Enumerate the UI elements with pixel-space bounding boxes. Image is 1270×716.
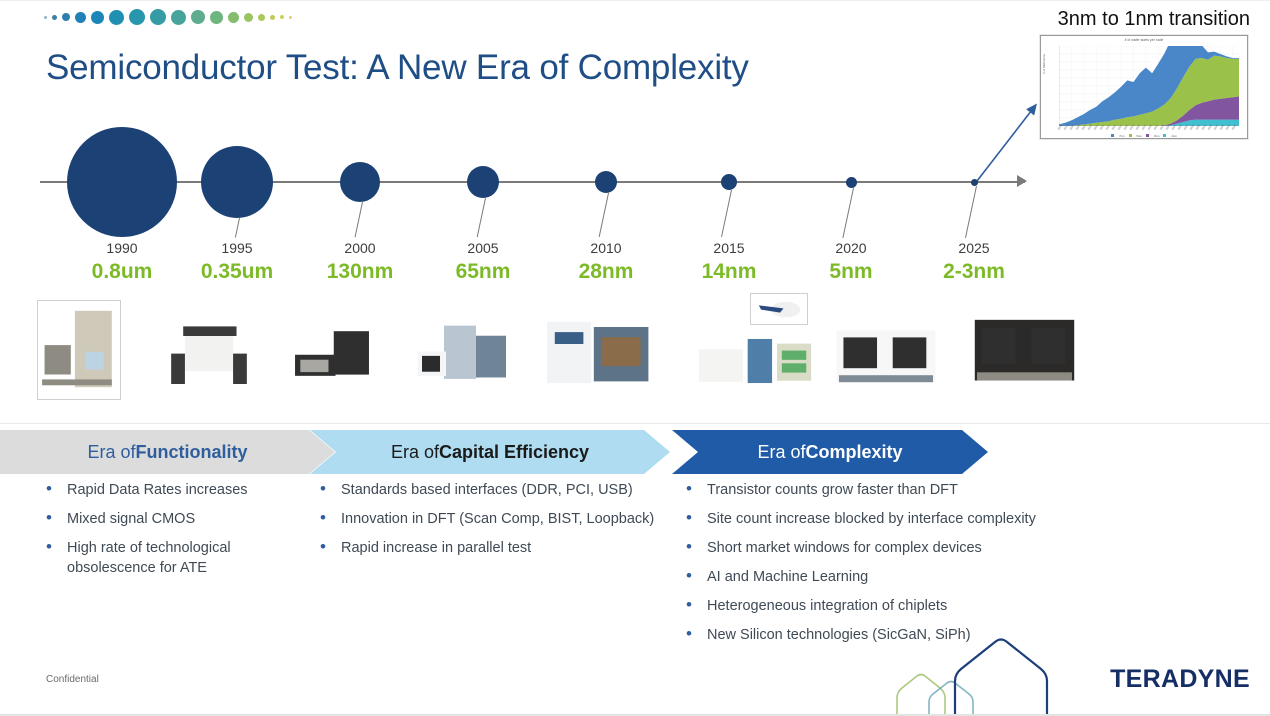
legend-swatch <box>1163 134 1166 137</box>
decor-dot <box>270 15 275 20</box>
photo-2015-tester <box>694 332 816 390</box>
top-divider <box>0 0 1270 1</box>
timeline-node-size-label: 28nm <box>536 260 676 284</box>
legend-swatch <box>1146 134 1149 137</box>
list-item: Heterogeneous integration of chiplets <box>676 596 1096 616</box>
timeline-node-2000[interactable] <box>340 162 380 202</box>
photo-2005-tester <box>414 317 514 389</box>
photo-2025-tester <box>968 310 1081 392</box>
inset-chart-title: # of wafer starts per node <box>1041 38 1247 42</box>
decor-dot <box>150 9 166 25</box>
list-item: AI and Machine Learning <box>676 567 1096 587</box>
era-label-emphasis: Complexity <box>806 442 903 463</box>
equipment-illustration <box>968 310 1081 392</box>
decor-dot <box>129 9 145 25</box>
equipment-illustration <box>751 294 807 324</box>
equipment-illustration <box>694 332 816 390</box>
timeline-node-size-label: 14nm <box>659 260 799 284</box>
timeline-leader-line <box>599 193 609 237</box>
timeline-year-label: 2025 <box>914 240 1034 256</box>
era-label-prefix: Era of <box>391 442 439 463</box>
equipment-illustration <box>414 317 514 389</box>
decor-dot <box>244 13 253 22</box>
equipment-illustration <box>830 322 942 392</box>
decor-dot <box>258 14 265 21</box>
confidential-label: Confidential <box>46 674 99 685</box>
decor-dot <box>228 12 239 23</box>
list-item: Transistor counts grow faster than DFT <box>676 480 1096 500</box>
list-item: Standards based interfaces (DDR, PCI, US… <box>310 480 675 500</box>
timeline-leader-line <box>477 198 486 237</box>
timeline-node-1990[interactable] <box>67 127 177 237</box>
timeline-year-label: 1990 <box>62 240 182 256</box>
slide-canvas: Semiconductor Test: A New Era of Complex… <box>0 0 1270 716</box>
list-item: Rapid Data Rates increases <box>36 480 321 500</box>
list-item: Innovation in DFT (Scan Comp, BIST, Loop… <box>310 509 675 529</box>
timeline-year-label: 2000 <box>300 240 420 256</box>
decor-dot <box>75 12 86 23</box>
timeline-year-label: 2005 <box>423 240 543 256</box>
decor-dot <box>289 16 292 19</box>
page-title: Semiconductor Test: A New Era of Complex… <box>46 48 749 88</box>
equipment-illustration <box>38 301 120 399</box>
timeline-axis <box>40 181 1025 183</box>
decor-dot <box>210 11 223 24</box>
list-item: Rapid increase in parallel test <box>310 538 675 558</box>
timeline-leader-line <box>355 202 363 237</box>
timeline-node-2015[interactable] <box>721 174 737 190</box>
bullet-column-capital-efficiency: Standards based interfaces (DDR, PCI, US… <box>310 480 675 567</box>
decor-dot <box>280 15 284 19</box>
timeline-node-1995[interactable] <box>201 146 273 218</box>
section-divider <box>0 423 1270 424</box>
era-label-emphasis: Capital Efficiency <box>439 442 589 463</box>
pointer-arrow-to-inset <box>975 100 1045 182</box>
teradyne-logomark <box>885 636 1115 716</box>
timeline-year-label: 2015 <box>669 240 789 256</box>
timeline-axis-arrowhead <box>1017 175 1027 187</box>
photo-1995-tester <box>166 312 252 392</box>
timeline-node-2005[interactable] <box>467 166 499 198</box>
timeline-year-label: 1995 <box>177 240 297 256</box>
decor-dot <box>109 10 124 25</box>
inset-chart-plot <box>1059 46 1239 126</box>
timeline-node-2025[interactable] <box>971 179 978 186</box>
inset-chart-caption: 3nm to 1nm transition <box>1058 8 1250 31</box>
decor-dot <box>52 15 57 20</box>
photo-2010-tester <box>534 310 664 395</box>
equipment-illustration <box>166 312 252 392</box>
legend-swatch <box>1129 134 1132 137</box>
timeline-year-label: 2010 <box>546 240 666 256</box>
list-item: Short market windows for complex devices <box>676 538 1096 558</box>
photo-1990-tester <box>37 300 121 400</box>
photo-2015-inset-wafer <box>750 293 808 325</box>
timeline-leader-line <box>721 190 732 237</box>
decor-dot <box>44 16 47 19</box>
timeline-leader-line <box>843 187 854 237</box>
list-item: Site count increase blocked by interface… <box>676 509 1096 529</box>
decor-dot <box>171 10 186 25</box>
legend-label: 2nm <box>1171 134 1176 138</box>
decor-dot <box>91 11 104 24</box>
era-label-prefix: Era of <box>757 442 805 463</box>
bullet-column-functionality: Rapid Data Rates increasesMixed signal C… <box>36 480 321 587</box>
inset-chart-ylabel: # of Wafers/mo <box>1042 54 1046 74</box>
timeline-node-size-label: 130nm <box>290 260 430 284</box>
list-item: Mixed signal CMOS <box>36 509 321 529</box>
gradient-dot-strip <box>44 7 297 27</box>
decor-dot <box>62 13 70 21</box>
legend-label: 3nm <box>1154 134 1159 138</box>
timeline-leader-line <box>235 218 240 238</box>
list-item: High rate of technological obsolescence … <box>36 538 321 578</box>
timeline-node-size-label: 5nm <box>781 260 921 284</box>
timeline-node-2020[interactable] <box>846 177 857 188</box>
timeline-node-size-label: 2-3nm <box>904 260 1044 284</box>
timeline-year-label: 2020 <box>791 240 911 256</box>
era-label-emphasis: Functionality <box>136 442 248 463</box>
inset-chart-legend: 7nm5nm3nm2nm <box>1041 132 1247 139</box>
timeline-node-2010[interactable] <box>595 171 617 193</box>
legend-label: 5nm <box>1137 134 1142 138</box>
timeline-node-size-label: 0.35um <box>167 260 307 284</box>
legend-swatch <box>1111 134 1114 137</box>
era-banner: Era of FunctionalityEra of Capital Effic… <box>0 430 1000 474</box>
legend-label: 7nm <box>1119 134 1124 138</box>
era-chevron-capital-efficiency[interactable]: Era of Capital Efficiency <box>310 430 670 474</box>
equipment-illustration <box>288 325 376 387</box>
equipment-illustration <box>534 310 664 395</box>
brand-wordmark: TERADYNE <box>1110 665 1250 694</box>
inset-chart[interactable]: # of wafer starts per node # of Wafers/m… <box>1040 35 1248 139</box>
inset-chart-xticks: 2019201920202020202020202021202120212021… <box>1059 125 1239 132</box>
timeline-node-size-label: 65nm <box>413 260 553 284</box>
era-label-prefix: Era of <box>87 442 135 463</box>
era-chevron-functionality[interactable]: Era of Functionality <box>0 430 335 474</box>
era-chevron-complexity[interactable]: Era of Complexity <box>672 430 988 474</box>
bullet-column-complexity: Transistor counts grow faster than DFTSi… <box>676 480 1096 654</box>
decor-dot <box>191 10 205 24</box>
timeline-leader-line <box>965 185 977 237</box>
photo-2020-tester <box>830 322 942 392</box>
photo-2000-tester <box>288 325 376 387</box>
